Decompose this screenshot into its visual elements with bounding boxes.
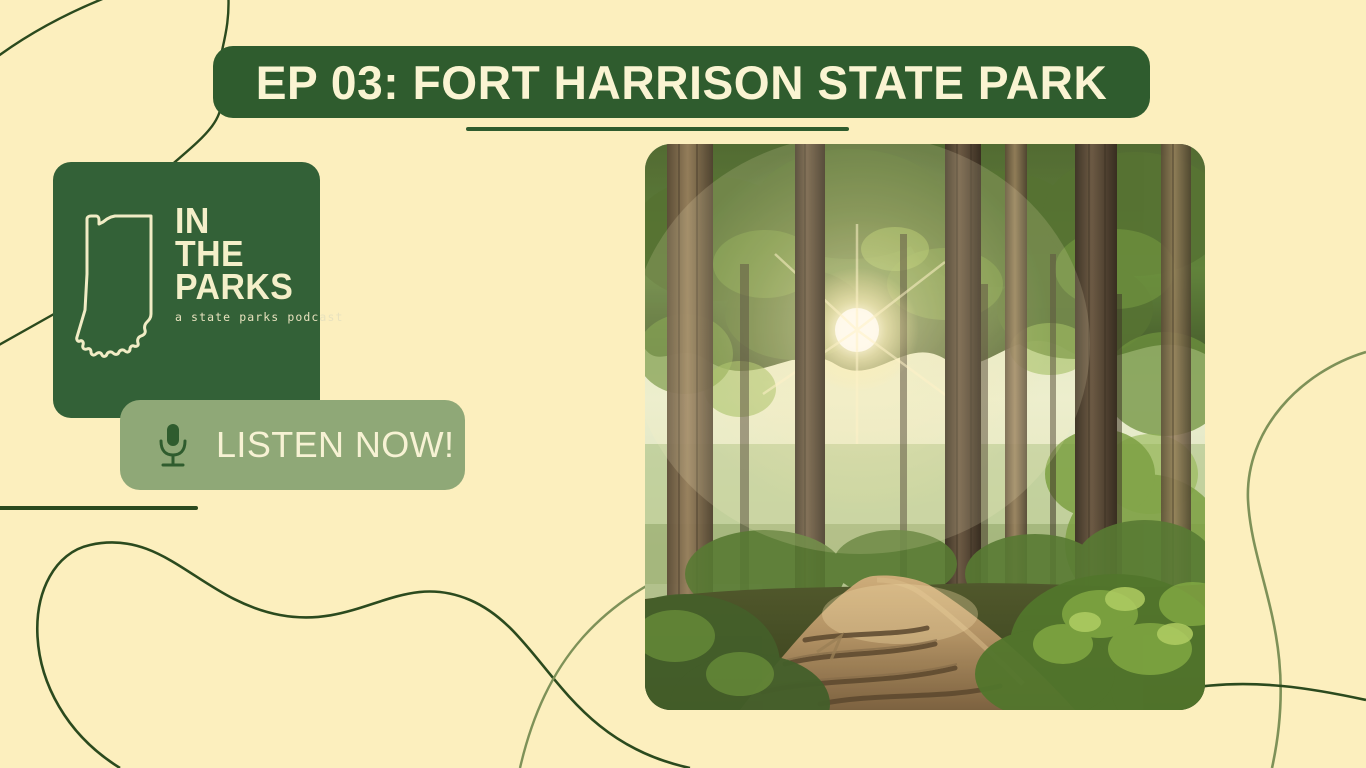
right-edge-curve (1248, 352, 1366, 768)
podcast-tagline: a state parks podcast (175, 310, 344, 324)
episode-photo (645, 144, 1205, 710)
forest-trail-illustration (645, 144, 1205, 710)
episode-title-banner: EP 03: FORT HARRISON STATE PARK (213, 46, 1150, 118)
top-left-arc-curve (0, 0, 235, 70)
bottom-left-blob-curve (37, 542, 690, 768)
page-title: EP 03: FORT HARRISON STATE PARK (256, 59, 1108, 106)
title-underline-rule (466, 127, 849, 131)
podcast-logo-card: IN THE PARKS a state parks podcast (53, 162, 320, 418)
microphone-icon (156, 422, 190, 468)
wordmark-line-3: PARKS (175, 270, 333, 303)
poster-canvas: EP 03: FORT HARRISON STATE PARK IN THE P… (0, 0, 1366, 768)
listen-now-label: LISTEN NOW! (216, 424, 454, 466)
listen-now-button[interactable]: LISTEN NOW! (120, 400, 465, 490)
podcast-wordmark: IN THE PARKS a state parks podcast (175, 200, 344, 324)
indiana-state-outline-icon (73, 206, 165, 366)
bottom-right-sweep-curve (1180, 684, 1366, 700)
left-accent-rule (0, 506, 198, 510)
